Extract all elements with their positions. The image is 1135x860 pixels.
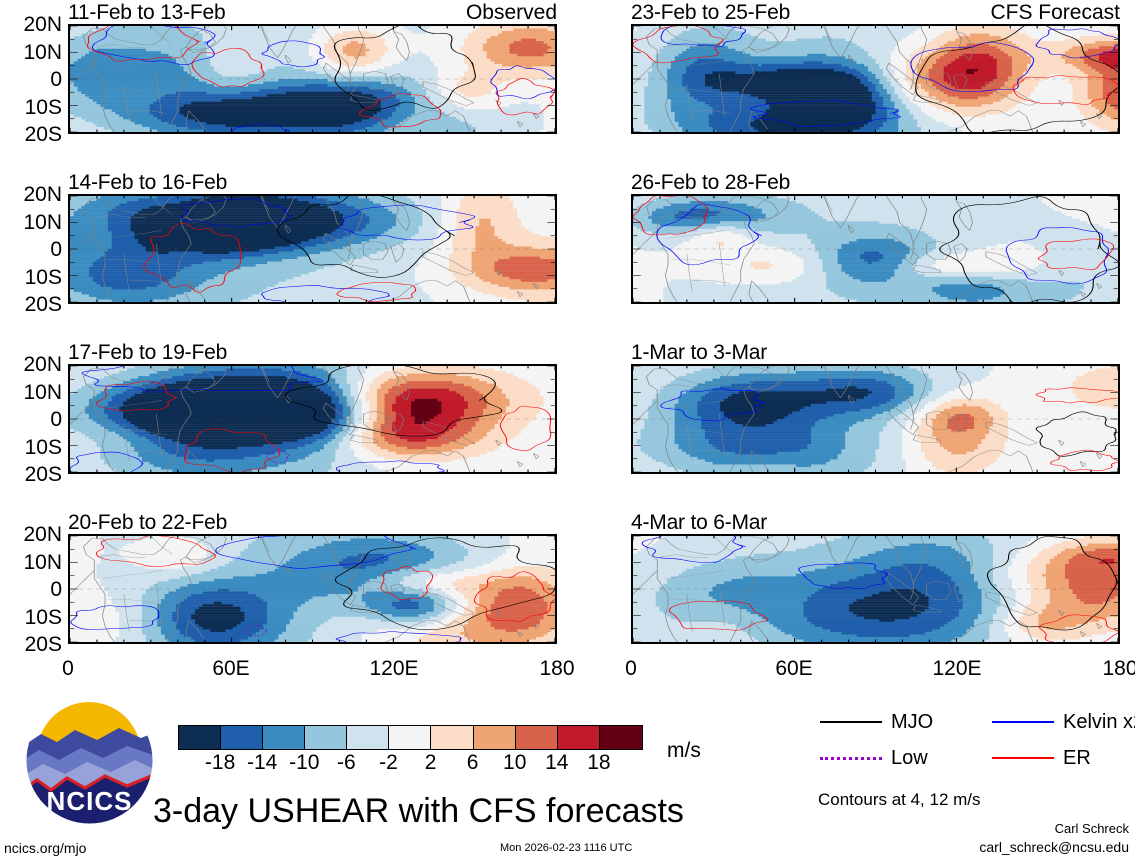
legend-line-swatch — [992, 721, 1054, 723]
y-axis-labels-row-1: 20N10N010S20S — [2, 194, 62, 304]
x-tick-label: 180 — [539, 658, 574, 679]
colorbar-swatch-6 — [431, 726, 473, 749]
y-tick-label: 10S — [25, 437, 62, 458]
colorbar-swatch-3 — [305, 726, 347, 749]
panel-title-fcs-1: 23-Feb to 25-Feb — [631, 2, 790, 23]
y-tick-label: 20N — [23, 354, 62, 375]
panel-title-fcs-4: 4-Mar to 6-Mar — [631, 512, 767, 533]
colorbar-tick-label: -2 — [379, 752, 398, 773]
colorbar-units-label: m/s — [667, 740, 701, 761]
colorbar-tick-label: 14 — [545, 752, 568, 773]
colorbar-swatch-4 — [347, 726, 389, 749]
author-label: Carl Schreck — [1055, 822, 1129, 835]
y-tick-label: 20S — [25, 294, 62, 315]
figure-canvas: 11-Feb to 13-FebObserved14-Feb to 16-Feb… — [0, 0, 1135, 860]
y-tick-label: 0 — [50, 69, 62, 90]
y-tick-label: 0 — [50, 409, 62, 430]
ncics-logo: NCICS — [23, 694, 156, 827]
y-tick-label: 10S — [25, 607, 62, 628]
x-tick-label: 60E — [212, 658, 249, 679]
panel-obs-4: 20-Feb to 22-Feb — [68, 534, 557, 644]
contour-legend: MJOKelvin x2LowER — [820, 712, 1120, 782]
contour-interval-note: Contours at 4, 12 m/s — [818, 791, 981, 808]
colorbar-swatch-1 — [221, 726, 263, 749]
colorbar-tick-label: 2 — [425, 752, 437, 773]
panel-obs-1: 11-Feb to 13-FebObserved — [68, 24, 557, 134]
column-header-left: Observed — [466, 2, 557, 23]
map-plot-obs-4 — [68, 534, 557, 644]
map-plot-obs-1 — [68, 24, 557, 134]
map-plot-fcs-1 — [631, 24, 1120, 134]
legend-label: MJO — [891, 712, 933, 732]
x-tick-label: 180 — [1102, 658, 1135, 679]
main-title: 3-day USHEAR with CFS forecasts — [153, 794, 684, 828]
map-plot-fcs-3 — [631, 364, 1120, 474]
y-tick-label: 0 — [50, 239, 62, 260]
panel-title-obs-1: 11-Feb to 13-Feb — [68, 2, 226, 23]
y-tick-label: 20N — [23, 184, 62, 205]
colorbar-tick-label: -18 — [205, 752, 235, 773]
colorbar-swatch-2 — [263, 726, 305, 749]
panel-obs-3: 17-Feb to 19-Feb — [68, 364, 557, 474]
legend-label: Kelvin x2 — [1063, 712, 1135, 732]
colorbar-tick-label: -10 — [289, 752, 319, 773]
y-axis-labels-row-2: 20N10N010S20S — [2, 364, 62, 474]
legend-item-er: ER — [992, 748, 1091, 768]
legend-line-swatch — [820, 721, 882, 723]
x-axis-labels-col-1: 060E120E180 — [631, 658, 1120, 680]
panel-title-fcs-2: 26-Feb to 28-Feb — [631, 172, 790, 193]
y-tick-label: 10S — [25, 97, 62, 118]
y-tick-label: 20N — [23, 524, 62, 545]
x-tick-label: 0 — [625, 658, 637, 679]
legend-item-kelvin-x2: Kelvin x2 — [992, 712, 1135, 732]
map-plot-obs-2 — [68, 194, 557, 304]
colorbar-tick-label: -14 — [247, 752, 277, 773]
legend-item-mjo: MJO — [820, 712, 933, 732]
colorbar-swatches — [178, 725, 643, 750]
author-email-label: carl_schreck@ncsu.edu — [979, 840, 1129, 854]
colorbar-swatch-7 — [474, 726, 516, 749]
colorbar: -18-14-10-6-226101418 — [178, 725, 644, 751]
panel-fcs-4: 4-Mar to 6-Mar — [631, 534, 1120, 644]
panel-title-obs-2: 14-Feb to 16-Feb — [68, 172, 227, 193]
panel-fcs-3: 1-Mar to 3-Mar — [631, 364, 1120, 474]
y-tick-label: 20N — [23, 14, 62, 35]
y-tick-label: 20S — [25, 464, 62, 485]
y-tick-label: 10N — [23, 212, 62, 233]
y-tick-label: 10N — [23, 382, 62, 403]
colorbar-swatch-5 — [389, 726, 431, 749]
colorbar-swatch-8 — [516, 726, 558, 749]
panel-fcs-2: 26-Feb to 28-Feb — [631, 194, 1120, 304]
legend-label: Low — [891, 748, 928, 768]
y-axis-labels-row-0: 20N10N010S20S — [2, 24, 62, 134]
colorbar-tick-label: 6 — [467, 752, 479, 773]
x-tick-label: 60E — [775, 658, 812, 679]
colorbar-swatch-0 — [179, 726, 221, 749]
timestamp-label: Mon 2026-02-23 1116 UTC — [500, 843, 632, 854]
y-tick-label: 0 — [50, 579, 62, 600]
panel-title-obs-4: 20-Feb to 22-Feb — [68, 512, 227, 533]
colorbar-swatch-10 — [600, 726, 642, 749]
legend-line-swatch — [992, 757, 1054, 759]
x-tick-label: 120E — [932, 658, 981, 679]
legend-label: ER — [1063, 748, 1091, 768]
legend-item-low: Low — [820, 748, 928, 768]
colorbar-tick-labels: -18-14-10-6-226101418 — [178, 752, 644, 776]
y-tick-label: 10N — [23, 552, 62, 573]
panel-obs-2: 14-Feb to 16-Feb — [68, 194, 557, 304]
x-axis-labels-col-0: 060E120E180 — [68, 658, 557, 680]
y-tick-label: 20S — [25, 634, 62, 655]
panel-title-fcs-3: 1-Mar to 3-Mar — [631, 342, 767, 363]
legend-line-swatch — [820, 757, 882, 760]
svg-text:NCICS: NCICS — [47, 786, 133, 816]
map-plot-fcs-4 — [631, 534, 1120, 644]
x-tick-label: 120E — [369, 658, 418, 679]
x-tick-label: 0 — [62, 658, 74, 679]
y-tick-label: 10S — [25, 267, 62, 288]
site-url-label: ncics.org/mjo — [4, 841, 86, 855]
colorbar-tick-label: 10 — [503, 752, 526, 773]
panel-title-obs-3: 17-Feb to 19-Feb — [68, 342, 227, 363]
map-plot-obs-3 — [68, 364, 557, 474]
colorbar-tick-label: 18 — [587, 752, 610, 773]
y-tick-label: 20S — [25, 124, 62, 145]
y-tick-label: 10N — [23, 42, 62, 63]
colorbar-tick-label: -6 — [337, 752, 356, 773]
column-header-right: CFS Forecast — [990, 2, 1120, 23]
panel-fcs-1: 23-Feb to 25-FebCFS Forecast — [631, 24, 1120, 134]
y-axis-labels-row-3: 20N10N010S20S — [2, 534, 62, 644]
colorbar-swatch-9 — [558, 726, 600, 749]
map-plot-fcs-2 — [631, 194, 1120, 304]
